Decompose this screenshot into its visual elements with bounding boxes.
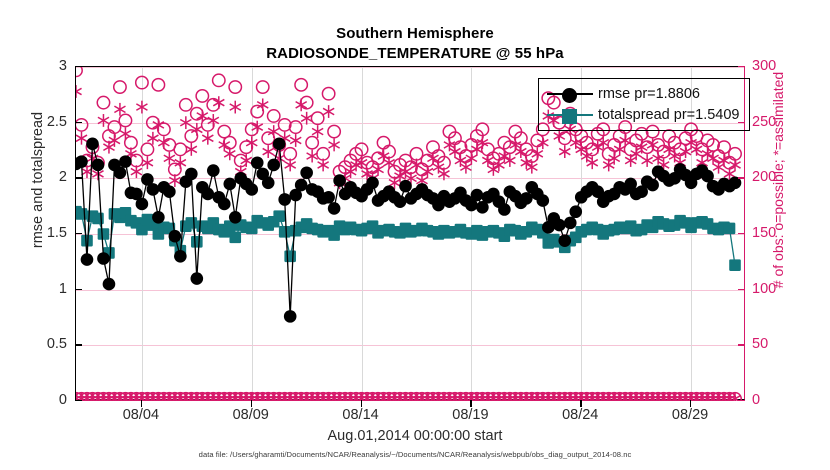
legend-swatch-rmse bbox=[547, 87, 593, 101]
y-tick-mark-left bbox=[75, 177, 82, 178]
legend-label-totalspread: totalspread pr=1.5409 bbox=[598, 107, 739, 123]
y-tick-label-right: 50 bbox=[752, 336, 812, 352]
x-tick-mark bbox=[580, 400, 581, 407]
y-tick-mark-right bbox=[738, 233, 745, 234]
x-tick-label: 08/19 bbox=[430, 407, 510, 423]
x-tick-label: 08/24 bbox=[540, 407, 620, 423]
legend-item-rmse[interactable]: rmse pr=1.8806 bbox=[547, 83, 739, 104]
data-file-footer: data file: /Users/gharamti/Documents/NCA… bbox=[0, 450, 830, 459]
x-tick-mark bbox=[470, 400, 471, 407]
y-tick-mark-right bbox=[738, 66, 745, 67]
chart-legend[interactable]: rmse pr=1.8806 totalspread pr=1.5409 bbox=[538, 78, 750, 131]
x-tick-label: 08/14 bbox=[321, 407, 401, 423]
x-tick-mark bbox=[690, 400, 691, 407]
y-axis-label-left: rmse and totalspread bbox=[30, 30, 46, 330]
x-tick-mark bbox=[361, 400, 362, 407]
filled-square-icon bbox=[562, 109, 577, 124]
x-tick-label: 08/29 bbox=[650, 407, 730, 423]
x-tick-mark bbox=[141, 400, 142, 407]
y-tick-mark-left bbox=[75, 289, 82, 290]
y-tick-mark-left bbox=[75, 233, 82, 234]
y-tick-label-left: 0.5 bbox=[7, 336, 67, 352]
legend-label-rmse: rmse pr=1.8806 bbox=[598, 86, 700, 102]
legend-swatch-totalspread bbox=[547, 108, 593, 122]
x-tick-label: 08/04 bbox=[101, 407, 181, 423]
x-axis-label: Aug.01,2014 00:00:00 start bbox=[0, 428, 830, 444]
y-axis-label-right: # of obs: o=possible; *=assimilated bbox=[770, 30, 786, 330]
y-tick-mark-left bbox=[75, 344, 82, 345]
x-tick-label: 08/09 bbox=[211, 407, 291, 423]
axis-layer: 00.511.522.5305010015020025030008/0408/0… bbox=[0, 0, 830, 470]
y-tick-mark-right bbox=[738, 289, 745, 290]
y-tick-mark-left bbox=[75, 122, 82, 123]
y-tick-label-left: 0 bbox=[7, 392, 67, 408]
y-tick-label-right: 0 bbox=[752, 392, 812, 408]
y-tick-mark-right bbox=[738, 177, 745, 178]
filled-circle-icon bbox=[562, 88, 577, 103]
y-tick-mark-right bbox=[738, 400, 745, 401]
y-tick-mark-right bbox=[738, 344, 745, 345]
legend-item-totalspread[interactable]: totalspread pr=1.5409 bbox=[547, 104, 739, 125]
y-tick-mark-left bbox=[75, 400, 82, 401]
x-tick-mark bbox=[251, 400, 252, 407]
chart-page: Southern Hemisphere RADIOSONDE_TEMPERATU… bbox=[0, 0, 830, 470]
y-tick-mark-left bbox=[75, 66, 82, 67]
